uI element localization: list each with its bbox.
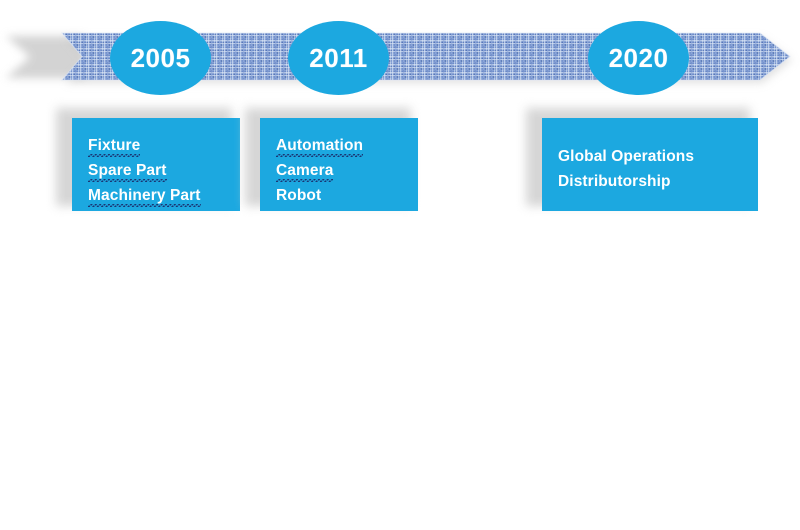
box-line-text: Robot — [276, 183, 321, 208]
diagram-canvas: 2005 2011 2020 Fixture Spare Part Machin… — [0, 0, 800, 530]
box-text-row: Machinery Part — [88, 183, 240, 208]
box-text-row: Fixture — [88, 133, 240, 158]
year-node-2011[interactable]: 2011 — [288, 21, 389, 95]
box-text-row: Distributorship — [558, 169, 758, 194]
box-text-row: Robot — [276, 183, 418, 208]
box-line-text: Global Operations — [558, 144, 694, 169]
milestone-box-2020[interactable]: Global Operations Distributorship — [542, 118, 758, 211]
box-line-text: Machinery Part — [88, 183, 201, 208]
box-line-text: Camera — [276, 158, 333, 183]
year-node-2020[interactable]: 2020 — [588, 21, 689, 95]
box-line-text: Spare Part — [88, 158, 167, 183]
year-node-2005[interactable]: 2005 — [110, 21, 211, 95]
box-text-row: Global Operations — [558, 144, 758, 169]
year-label: 2011 — [309, 45, 367, 71]
year-label: 2020 — [609, 45, 669, 71]
box-text-row: Automation — [276, 133, 418, 158]
box-line-text: Distributorship — [558, 169, 671, 194]
box-line-text: Automation — [276, 133, 363, 158]
timeline-ribbon-group: 2005 2011 2020 — [0, 0, 800, 110]
milestone-box-2005[interactable]: Fixture Spare Part Machinery Part — [72, 118, 240, 211]
box-line-text: Fixture — [88, 133, 140, 158]
milestone-box-2011[interactable]: Automation Camera Robot — [260, 118, 418, 211]
year-label: 2005 — [131, 45, 191, 71]
box-text-row: Camera — [276, 158, 418, 183]
box-text-row: Spare Part — [88, 158, 240, 183]
